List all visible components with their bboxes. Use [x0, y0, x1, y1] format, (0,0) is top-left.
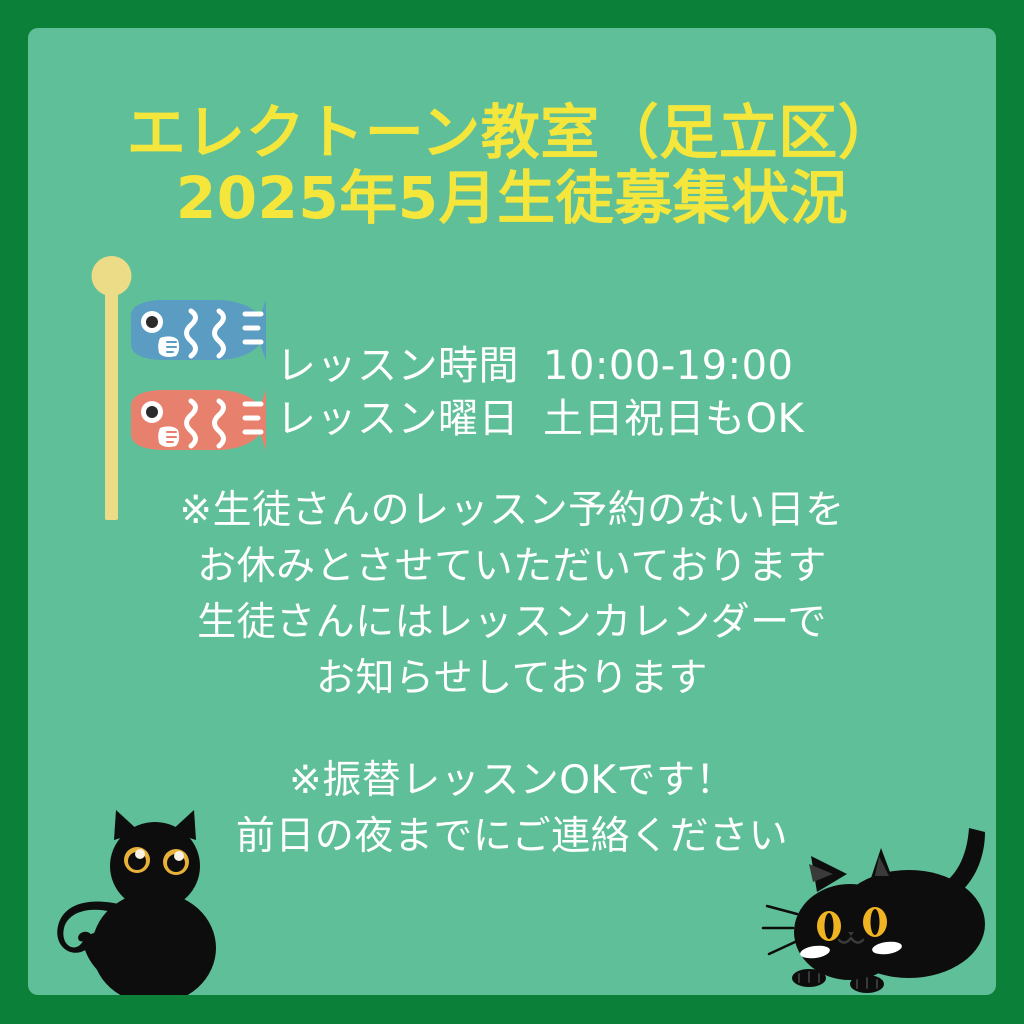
koinobori-carp-blue-icon [131, 300, 266, 360]
lesson-time-row: レッスン時間10:00-19:00 [276, 340, 916, 393]
title-line-1: エレクトーン教室（足立区） [28, 100, 996, 166]
title-line-2: 2025年5月生徒募集状況 [28, 166, 996, 231]
lesson-day-label: レッスン曜日 [276, 396, 519, 442]
cat-lying-icon [763, 828, 996, 995]
note-line-1: ※生徒さんのレッスン予約のない日を [28, 483, 996, 539]
lesson-time-value: 10:00-19:00 [543, 343, 793, 389]
lesson-time-label: レッスン時間 [276, 343, 519, 389]
cat-sitting-icon [36, 788, 246, 995]
poster-root: エレクトーン教室（足立区） 2025年5月生徒募集状況 [0, 0, 1024, 1024]
note-line-2: お休みとさせていただいております [28, 539, 996, 595]
note-line-3: 生徒さんにはレッスンカレンダーで [28, 595, 996, 651]
koinobori-pole-icon [92, 256, 132, 520]
page-title: エレクトーン教室（足立区） 2025年5月生徒募集状況 [28, 100, 996, 231]
koinobori-carp-red-icon [131, 390, 266, 450]
poster-panel: エレクトーン教室（足立区） 2025年5月生徒募集状況 [28, 28, 996, 995]
lesson-day-row: レッスン曜日土日祝日もOK [276, 393, 916, 446]
note-line-4: お知らせしております [28, 651, 996, 707]
lesson-day-value: 土日祝日もOK [543, 396, 804, 442]
lesson-info-block: レッスン時間10:00-19:00 レッスン曜日土日祝日もOK [276, 340, 916, 446]
note-block: ※生徒さんのレッスン予約のない日を お休みとさせていただいております 生徒さんに… [28, 483, 996, 707]
